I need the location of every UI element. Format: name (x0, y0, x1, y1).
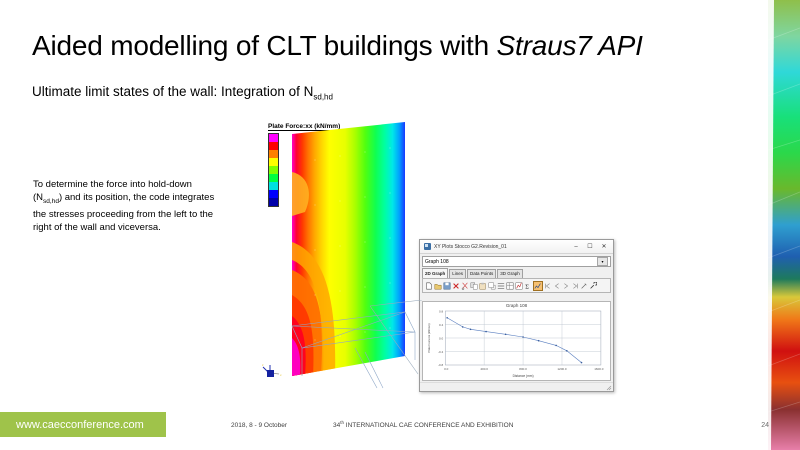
conference-name-rest: INTERNATIONAL CAE CONFERENCE AND EXHIBIT… (344, 422, 513, 429)
list-icon[interactable] (497, 282, 505, 290)
open-folder-icon[interactable] (434, 282, 442, 290)
chart-y-ticks: 0.8 0.4 0.0 -0.4 -0.8 (438, 310, 444, 367)
graph-selector-dropdown[interactable]: Graph 108 ▾ (422, 256, 611, 267)
paste-icon[interactable] (479, 282, 487, 290)
svg-text:Σ: Σ (525, 283, 529, 290)
sum-sigma-icon[interactable]: Σ (524, 282, 532, 290)
footer-date: 2018, 8 - 9 October (231, 422, 287, 429)
tab-3d-graph[interactable]: 3D Graph (497, 269, 523, 278)
window-title: XY Plots Stocco G2.Revision_01 (434, 244, 569, 250)
svg-text:x: x (280, 373, 282, 377)
svg-text:1200.0: 1200.0 (557, 367, 567, 371)
new-file-icon[interactable] (425, 282, 433, 290)
svg-text:400.0: 400.0 (480, 367, 488, 371)
xy-line-chart: 0.8 0.4 0.0 -0.4 -0.8 0.0 400.0 800.0 12… (423, 308, 610, 380)
svg-text:0.4: 0.4 (439, 323, 444, 327)
previous-record-icon[interactable] (553, 282, 561, 290)
next-record-icon[interactable] (562, 282, 570, 290)
first-record-icon[interactable] (544, 282, 552, 290)
graph-selector-value: Graph 108 (425, 259, 597, 265)
straus7-xyplot-window[interactable]: XY Plots Stocco G2.Revision_01 – ☐ ✕ Gra… (419, 239, 614, 392)
delete-icon[interactable] (452, 282, 460, 290)
chart-x-axis-label: Distance (mm) (513, 374, 534, 378)
svg-text:800.0: 800.0 (519, 367, 527, 371)
slide-page-number: 24 (761, 422, 769, 429)
page-title: Aided modelling of CLT buildings with St… (32, 30, 712, 62)
cut-icon[interactable] (461, 282, 469, 290)
title-text: Aided modelling of CLT buildings with (32, 30, 497, 61)
svg-text:0.0: 0.0 (444, 367, 449, 371)
subtitle-subscript: sd,hd (313, 93, 333, 102)
slide-canvas: Aided modelling of CLT buildings with St… (0, 0, 800, 450)
chart-x-ticks: 0.0 400.0 800.0 1200.0 1600.0 (444, 367, 604, 371)
color-strip-svg (758, 0, 800, 450)
footer-conference-name: 34th INTERNATIONAL CAE CONFERENCE AND EX… (333, 420, 513, 429)
maximize-button[interactable]: ☐ (583, 241, 597, 252)
save-icon[interactable] (443, 282, 451, 290)
graph-view-icon[interactable] (533, 281, 543, 291)
tab-lines[interactable]: Lines (449, 269, 466, 278)
chevron-down-icon[interactable]: ▾ (597, 257, 608, 266)
duplicate-icon[interactable] (488, 282, 496, 290)
svg-text:0.0: 0.0 (439, 337, 444, 341)
body-subscript: sd,hd (43, 198, 59, 205)
title-italic-text: Straus7 API (497, 30, 643, 61)
footer-website-url[interactable]: www.caecconference.com (16, 419, 144, 431)
graph-toolbar[interactable]: Σ (422, 278, 611, 293)
callout-leader-line (370, 300, 430, 380)
settings-wrench-icon[interactable] (589, 282, 597, 290)
graph-tab-bar[interactable]: 2D Graph Lines Data Points 3D Graph (422, 269, 611, 278)
tab-data-points[interactable]: Data Points (467, 269, 496, 278)
copy-icon[interactable] (470, 282, 478, 290)
svg-text:-0.4: -0.4 (438, 350, 444, 354)
last-record-icon[interactable] (571, 282, 579, 290)
graph-plot-area[interactable]: Graph 108 (422, 301, 611, 381)
app-icon (424, 243, 431, 250)
svg-text:0.8: 0.8 (439, 310, 444, 314)
svg-text:-0.8: -0.8 (438, 363, 444, 367)
subtitle-text: Ultimate limit states of the wall: Integ… (32, 84, 313, 99)
properties-icon[interactable] (580, 282, 588, 290)
subtitle: Ultimate limit states of the wall: Integ… (32, 84, 532, 102)
decorative-color-strip (758, 0, 800, 450)
axis-triad-icon: z x (262, 363, 282, 377)
svg-text:z: z (262, 363, 264, 367)
body-text-part2: ) and its position, the code integrates … (33, 192, 214, 233)
tab-2d-graph[interactable]: 2D Graph (422, 268, 448, 278)
window-titlebar[interactable]: XY Plots Stocco G2.Revision_01 – ☐ ✕ (420, 240, 613, 254)
table-icon[interactable] (506, 282, 514, 290)
close-button[interactable]: ✕ (597, 241, 611, 252)
window-statusbar (420, 382, 613, 391)
minimize-button[interactable]: – (569, 241, 583, 252)
body-paragraph: To determine the force into hold-down (N… (33, 178, 218, 234)
chart-icon[interactable] (515, 282, 523, 290)
resize-grip-icon[interactable] (606, 385, 612, 391)
svg-text:1600.0: 1600.0 (594, 367, 604, 371)
